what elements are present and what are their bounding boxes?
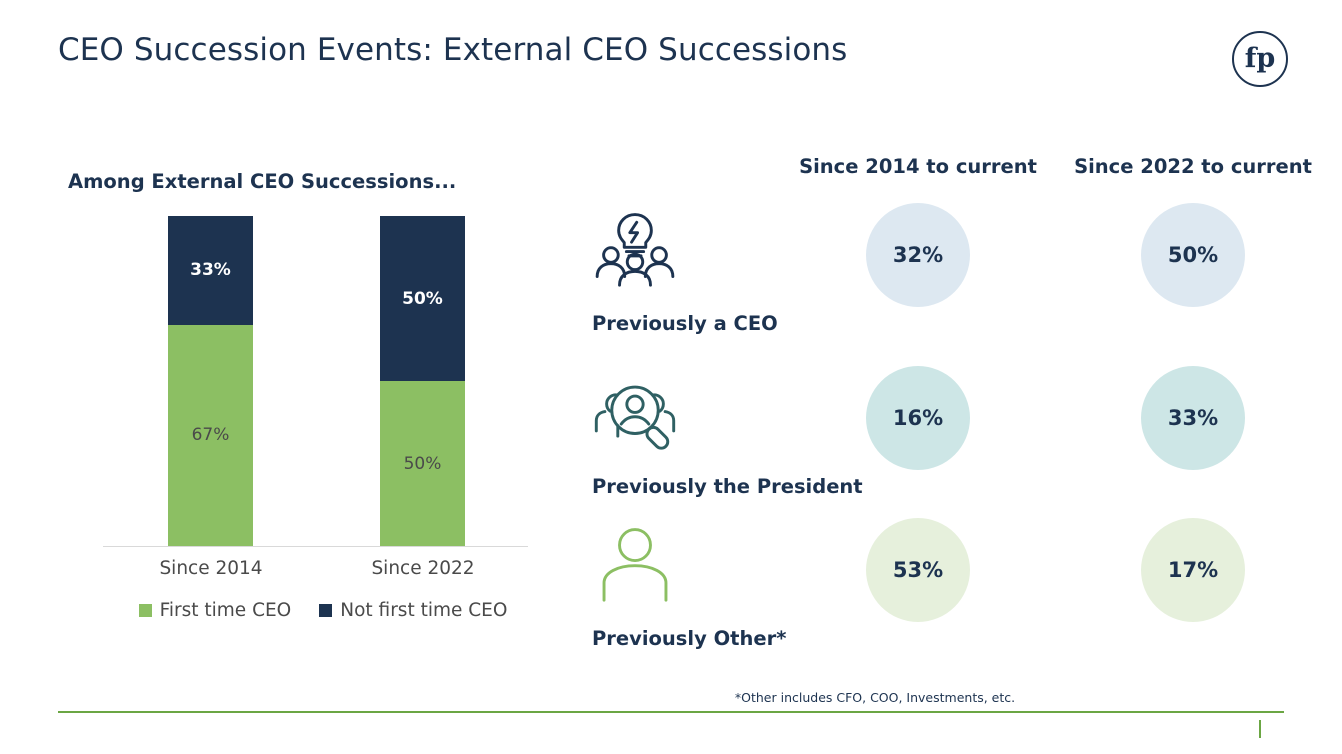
category-label-since-2014: Since 2014	[131, 558, 291, 579]
chart-heading: Among External CEO Successions...	[68, 170, 456, 193]
chart-plot-area: 33% 67% 50% 50%	[103, 216, 528, 546]
legend-swatch-icon	[139, 604, 152, 617]
chart-category-labels: Since 2014 Since 2022	[103, 558, 528, 588]
metric-row-label: Previously a CEO	[592, 312, 778, 335]
footer-tick-mark	[1259, 720, 1261, 738]
metrics-grid: Since 2014 to current Since 2022 to curr…	[570, 145, 1330, 675]
page-title: CEO Succession Events: External CEO Succ…	[58, 32, 847, 68]
metric-row-previously-the-president: Previously the President 16% 33%	[570, 363, 1330, 515]
metric-bubble-since-2014: 32%	[866, 203, 970, 307]
metric-bubble-since-2014: 16%	[866, 366, 970, 470]
column-header-since-2014: Since 2014 to current	[778, 155, 1058, 178]
bar-group-since-2022: 50% 50%	[380, 216, 465, 546]
metric-row-previously-other: Previously Other* 53% 17%	[570, 515, 1330, 667]
brand-logo-text: fp	[1245, 45, 1276, 72]
legend-item-not-first-time-ceo: Not first time CEO	[319, 600, 507, 621]
metric-row-previously-a-ceo: Previously a CEO 32% 50%	[570, 200, 1330, 352]
bar-group-since-2014: 33% 67%	[168, 216, 253, 546]
legend-item-first-time-ceo: First time CEO	[139, 600, 292, 621]
brand-logo: fp	[1232, 31, 1288, 87]
footer-divider	[58, 711, 1284, 713]
footnote: *Other includes CFO, COO, Investments, e…	[570, 690, 1180, 705]
stacked-bar-chart: Among External CEO Successions... 33% 67…	[58, 160, 558, 640]
legend-label: First time CEO	[160, 600, 292, 621]
column-header-since-2022: Since 2022 to current	[1053, 155, 1333, 178]
slide: CEO Succession Events: External CEO Succ…	[0, 0, 1342, 754]
category-label-since-2022: Since 2022	[343, 558, 503, 579]
metric-bubble-since-2022: 33%	[1141, 366, 1245, 470]
bar-segment-not-first-time-ceo: 33%	[168, 216, 253, 325]
metric-row-label: Previously the President	[592, 475, 863, 498]
lightbulb-people-icon	[592, 206, 678, 292]
person-icon	[592, 521, 678, 607]
legend-swatch-icon	[319, 604, 332, 617]
bar-segment-first-time-ceo: 67%	[168, 325, 253, 546]
bar-segment-not-first-time-ceo: 50%	[380, 216, 465, 381]
metric-bubble-since-2022: 50%	[1141, 203, 1245, 307]
bar-segment-first-time-ceo: 50%	[380, 381, 465, 546]
chart-legend: First time CEO Not first time CEO	[103, 600, 543, 621]
metric-bubble-since-2014: 53%	[866, 518, 970, 622]
person-magnifier-icon	[592, 369, 678, 455]
chart-x-axis	[103, 546, 528, 547]
legend-label: Not first time CEO	[340, 600, 507, 621]
metric-row-label: Previously Other*	[592, 627, 786, 650]
metric-bubble-since-2022: 17%	[1141, 518, 1245, 622]
